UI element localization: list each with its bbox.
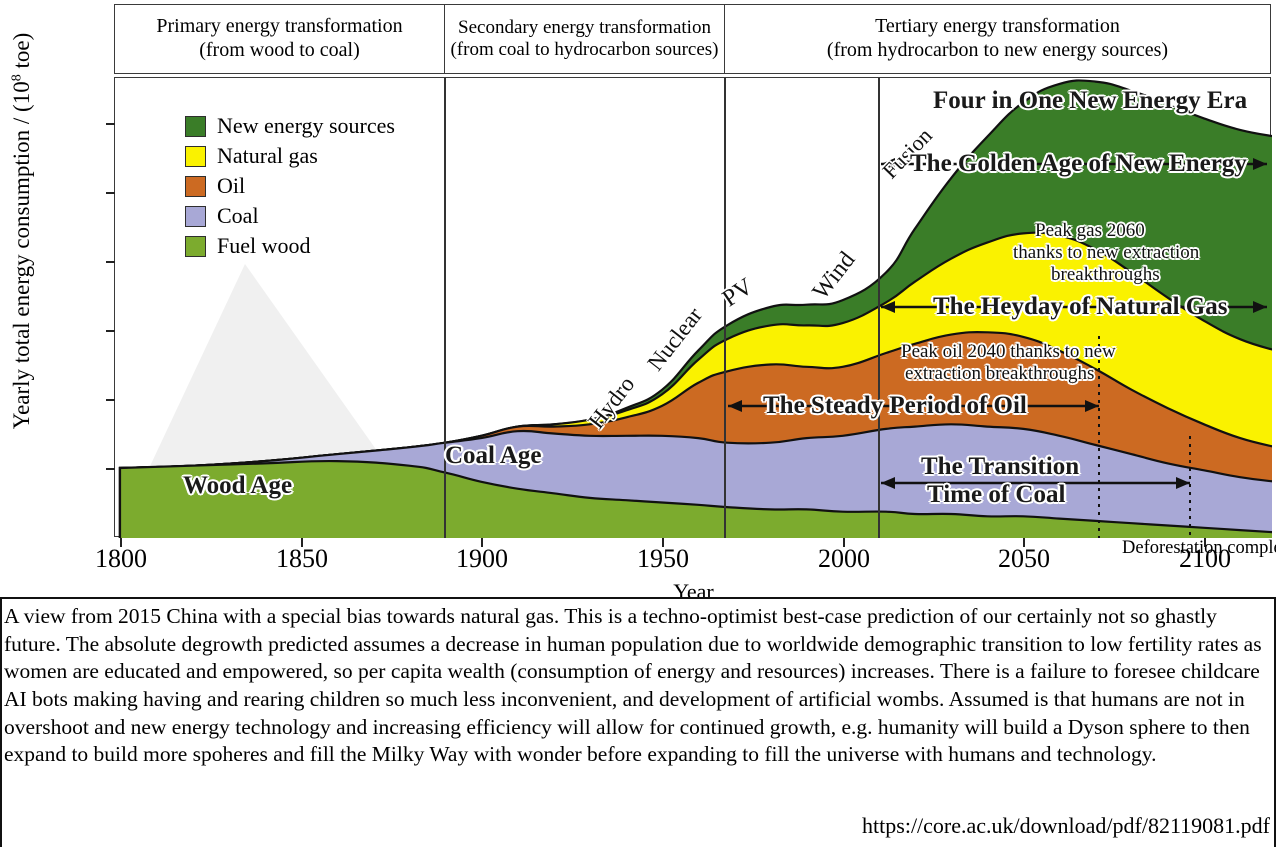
legend-swatch-icon (185, 206, 206, 227)
x-tick-label-2050: 2050 (979, 544, 1069, 574)
legend-label: Natural gas (217, 143, 318, 169)
legend-label: Coal (217, 203, 259, 229)
y-tick-mark (106, 468, 115, 470)
y-axis-title-exponent: 8 (9, 74, 24, 81)
era-title-line2: (from hydrocarbon to new energy sources) (827, 39, 1168, 63)
legend-item-oil: Oil (185, 171, 395, 201)
era-cell-tertiary: Tertiary energy transformation (from hyd… (725, 5, 1270, 73)
y-tick-mark (106, 261, 115, 263)
legend: New energy sources Natural gas Oil Coal … (185, 111, 395, 261)
legend-item-fuel-wood: Fuel wood (185, 231, 395, 261)
plot-area: 30 60 90 120 150 180 1800 1850 1900 1950… (114, 77, 1271, 537)
x-tick-label-1950: 1950 (618, 544, 708, 574)
y-axis-title-suffix: toe) (9, 33, 34, 75)
era-title-line1: Primary energy transformation (156, 15, 402, 39)
legend-item-natural-gas: Natural gas (185, 141, 395, 171)
figure: Primary energy transformation (from wood… (0, 0, 1276, 597)
y-tick-mark (106, 399, 115, 401)
y-tick-mark (106, 192, 115, 194)
caption-area: A view from 2015 China with a special bi… (0, 597, 1276, 847)
x-tick-label-1800: 1800 (76, 544, 166, 574)
legend-item-new-energy-sources: New energy sources (185, 111, 395, 141)
legend-swatch-icon (185, 146, 206, 167)
era-cell-secondary: Secondary energy transformation (from co… (445, 5, 725, 73)
legend-item-coal: Coal (185, 201, 395, 231)
source-url: https://core.ac.uk/download/pdf/82119081… (862, 813, 1270, 839)
legend-label: Fuel wood (217, 233, 311, 259)
era-title-line2: (from coal to hydrocarbon sources) (450, 39, 718, 61)
y-axis-title: Yearly total energy consumption / (108 t… (9, 0, 35, 481)
era-title-line1: Tertiary energy transformation (875, 15, 1120, 39)
x-tick-label-2100: 2100 (1160, 544, 1250, 574)
x-tick-label-1900: 1900 (437, 544, 527, 574)
era-header-band: Primary energy transformation (from wood… (114, 4, 1271, 74)
x-tick-label-1850: 1850 (257, 544, 347, 574)
era-cell-primary: Primary energy transformation (from wood… (115, 5, 445, 73)
caption-text: A view from 2015 China with a special bi… (4, 603, 1270, 769)
legend-label: Oil (217, 173, 245, 199)
y-tick-mark (106, 330, 115, 332)
y-tick-mark (106, 123, 115, 125)
era-title-line1: Secondary energy transformation (458, 17, 711, 39)
legend-swatch-icon (185, 116, 206, 137)
legend-swatch-icon (185, 236, 206, 257)
era-title-line2: (from wood to coal) (199, 39, 360, 63)
legend-swatch-icon (185, 176, 206, 197)
y-axis-title-prefix: Yearly total energy consumption / (10 (9, 81, 34, 429)
legend-label: New energy sources (217, 113, 395, 139)
x-tick-label-2000: 2000 (799, 544, 889, 574)
